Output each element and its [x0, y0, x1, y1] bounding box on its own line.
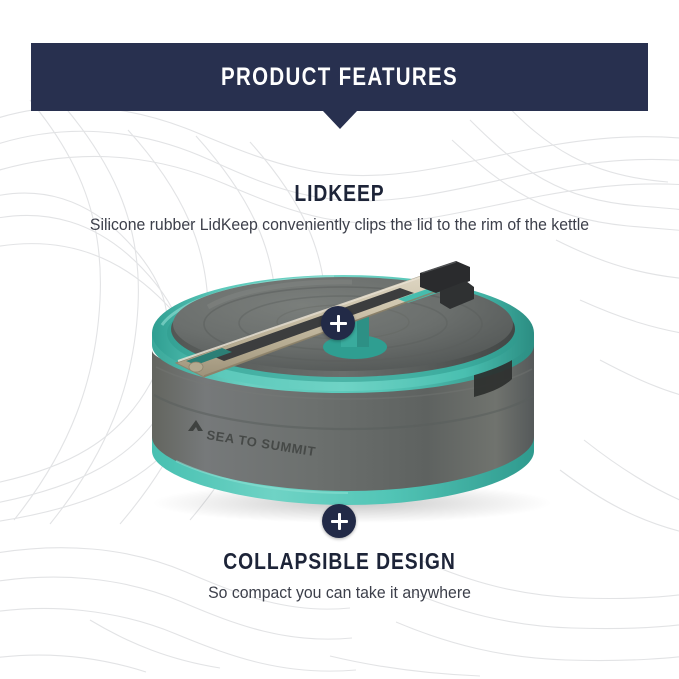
plus-icon-vertical — [338, 513, 341, 530]
banner-title: PRODUCT FEATURES — [221, 63, 458, 92]
feature-block-collapsible-design: COLLAPSIBLE DESIGN So compact you can ta… — [0, 548, 679, 605]
feature-heading-collapsible-design: COLLAPSIBLE DESIGN — [54, 548, 624, 575]
feature-heading-lidkeep: LIDKEEP — [54, 180, 624, 207]
feature-block-lidkeep: LIDKEEP Silicone rubber LidKeep convenie… — [0, 180, 679, 237]
plus-icon-vertical — [337, 315, 340, 332]
feature-description-collapsible-design: So compact you can take it anywhere — [24, 582, 655, 605]
feature-description-lidkeep: Silicone rubber LidKeep conveniently cli… — [24, 214, 655, 237]
plus-marker-lidkeep[interactable] — [321, 306, 355, 340]
plus-marker-collapsible-design[interactable] — [322, 504, 356, 538]
product-features-infographic: PRODUCT FEATURES LIDKEEP Silicone rubber… — [0, 0, 679, 679]
product-image-collapsible-kettle: SEA TO SUMMIT — [0, 255, 679, 530]
handle-pivot-rivet — [189, 362, 203, 372]
product-features-banner: PRODUCT FEATURES — [31, 43, 648, 111]
banner-notch-triangle — [323, 111, 357, 129]
